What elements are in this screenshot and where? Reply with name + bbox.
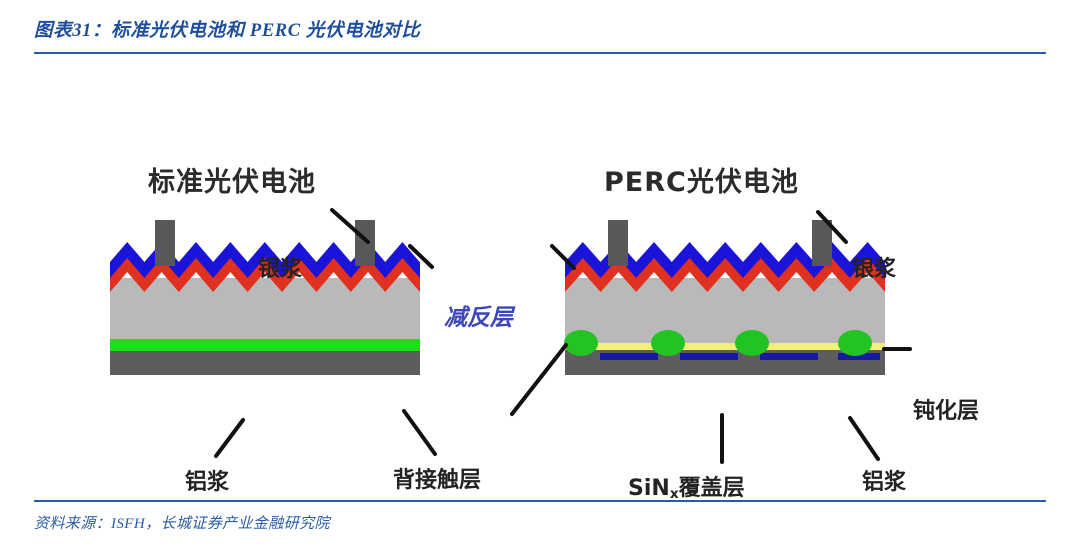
leader-back-contact-right: [512, 345, 566, 414]
page-title: 图表31：标准光伏电池和 PERC 光伏电池对比: [34, 16, 420, 42]
silver-finger-left-2: [355, 220, 375, 266]
leader-back-contact-left: [404, 411, 435, 454]
diagram-canvas: 标准光伏电池 PERC光伏电池 银浆 银浆 减反层 铝浆 背接触层 SiNx覆盖…: [0, 60, 1080, 498]
layer-back-contact-green: [110, 338, 420, 351]
cell-cross-sections: [0, 60, 1080, 498]
silver-finger-right-2: [812, 220, 832, 266]
heading-standard-cell: 标准光伏电池: [148, 160, 316, 199]
layer-passivation-yellow: [565, 342, 885, 350]
label-anti-reflective-layer: 减反层: [444, 298, 513, 332]
leader-aluminum-paste-left: [216, 420, 243, 456]
layer-silicon-bulk-right-cover: [565, 278, 885, 330]
sinx-text: SiN: [628, 476, 670, 501]
figure-page: 图表31：标准光伏电池和 PERC 光伏电池对比 标准光伏电池 PERC光伏电池…: [0, 0, 1080, 557]
label-aluminum-paste-left: 铝浆: [185, 464, 229, 496]
standard-cell-stack: [110, 220, 420, 375]
layer-aluminum-paste-left: [110, 350, 420, 375]
sinx-tail: 覆盖层: [679, 476, 745, 501]
source-note: 资料来源：ISFH，长城证券产业金融研究院: [34, 512, 330, 533]
silver-finger-left-1: [155, 220, 175, 266]
label-silver-paste-left: 银浆: [258, 251, 302, 283]
label-sinx-capping-layer: SiNx覆盖层: [628, 470, 745, 502]
heading-perc-cell: PERC光伏电池: [604, 160, 799, 199]
label-silver-paste-right: 银浆: [852, 251, 896, 283]
source-divider: [34, 500, 1046, 502]
title-divider: [34, 52, 1046, 54]
leader-aluminum-paste-right: [850, 418, 878, 459]
label-aluminum-paste-right: 铝浆: [862, 464, 906, 496]
label-passivation-layer: 钝化层: [913, 393, 979, 425]
perc-cell-stack: [564, 220, 885, 375]
label-back-contact-layer: 背接触层: [393, 462, 481, 494]
silver-finger-right-1: [608, 220, 628, 266]
layer-silicon-bulk-left: [110, 278, 420, 339]
